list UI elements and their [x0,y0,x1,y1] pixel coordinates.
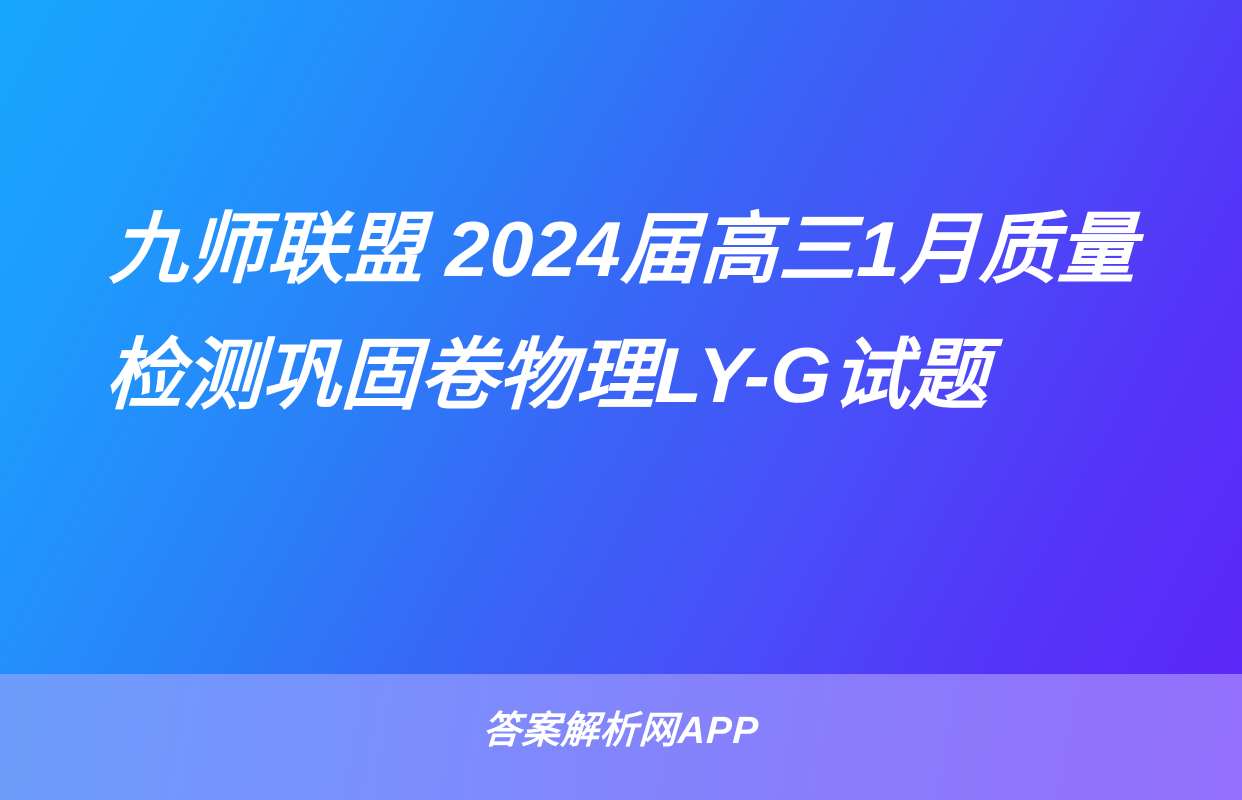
page-title: 九师联盟 2024届高三1月质量检测巩固卷物理LY-G试题 [103,186,1172,439]
title-card: 九师联盟 2024届高三1月质量检测巩固卷物理LY-G试题 答案解析网APP [0,0,1242,800]
watermark-label: 答案解析网APP [0,706,1242,756]
